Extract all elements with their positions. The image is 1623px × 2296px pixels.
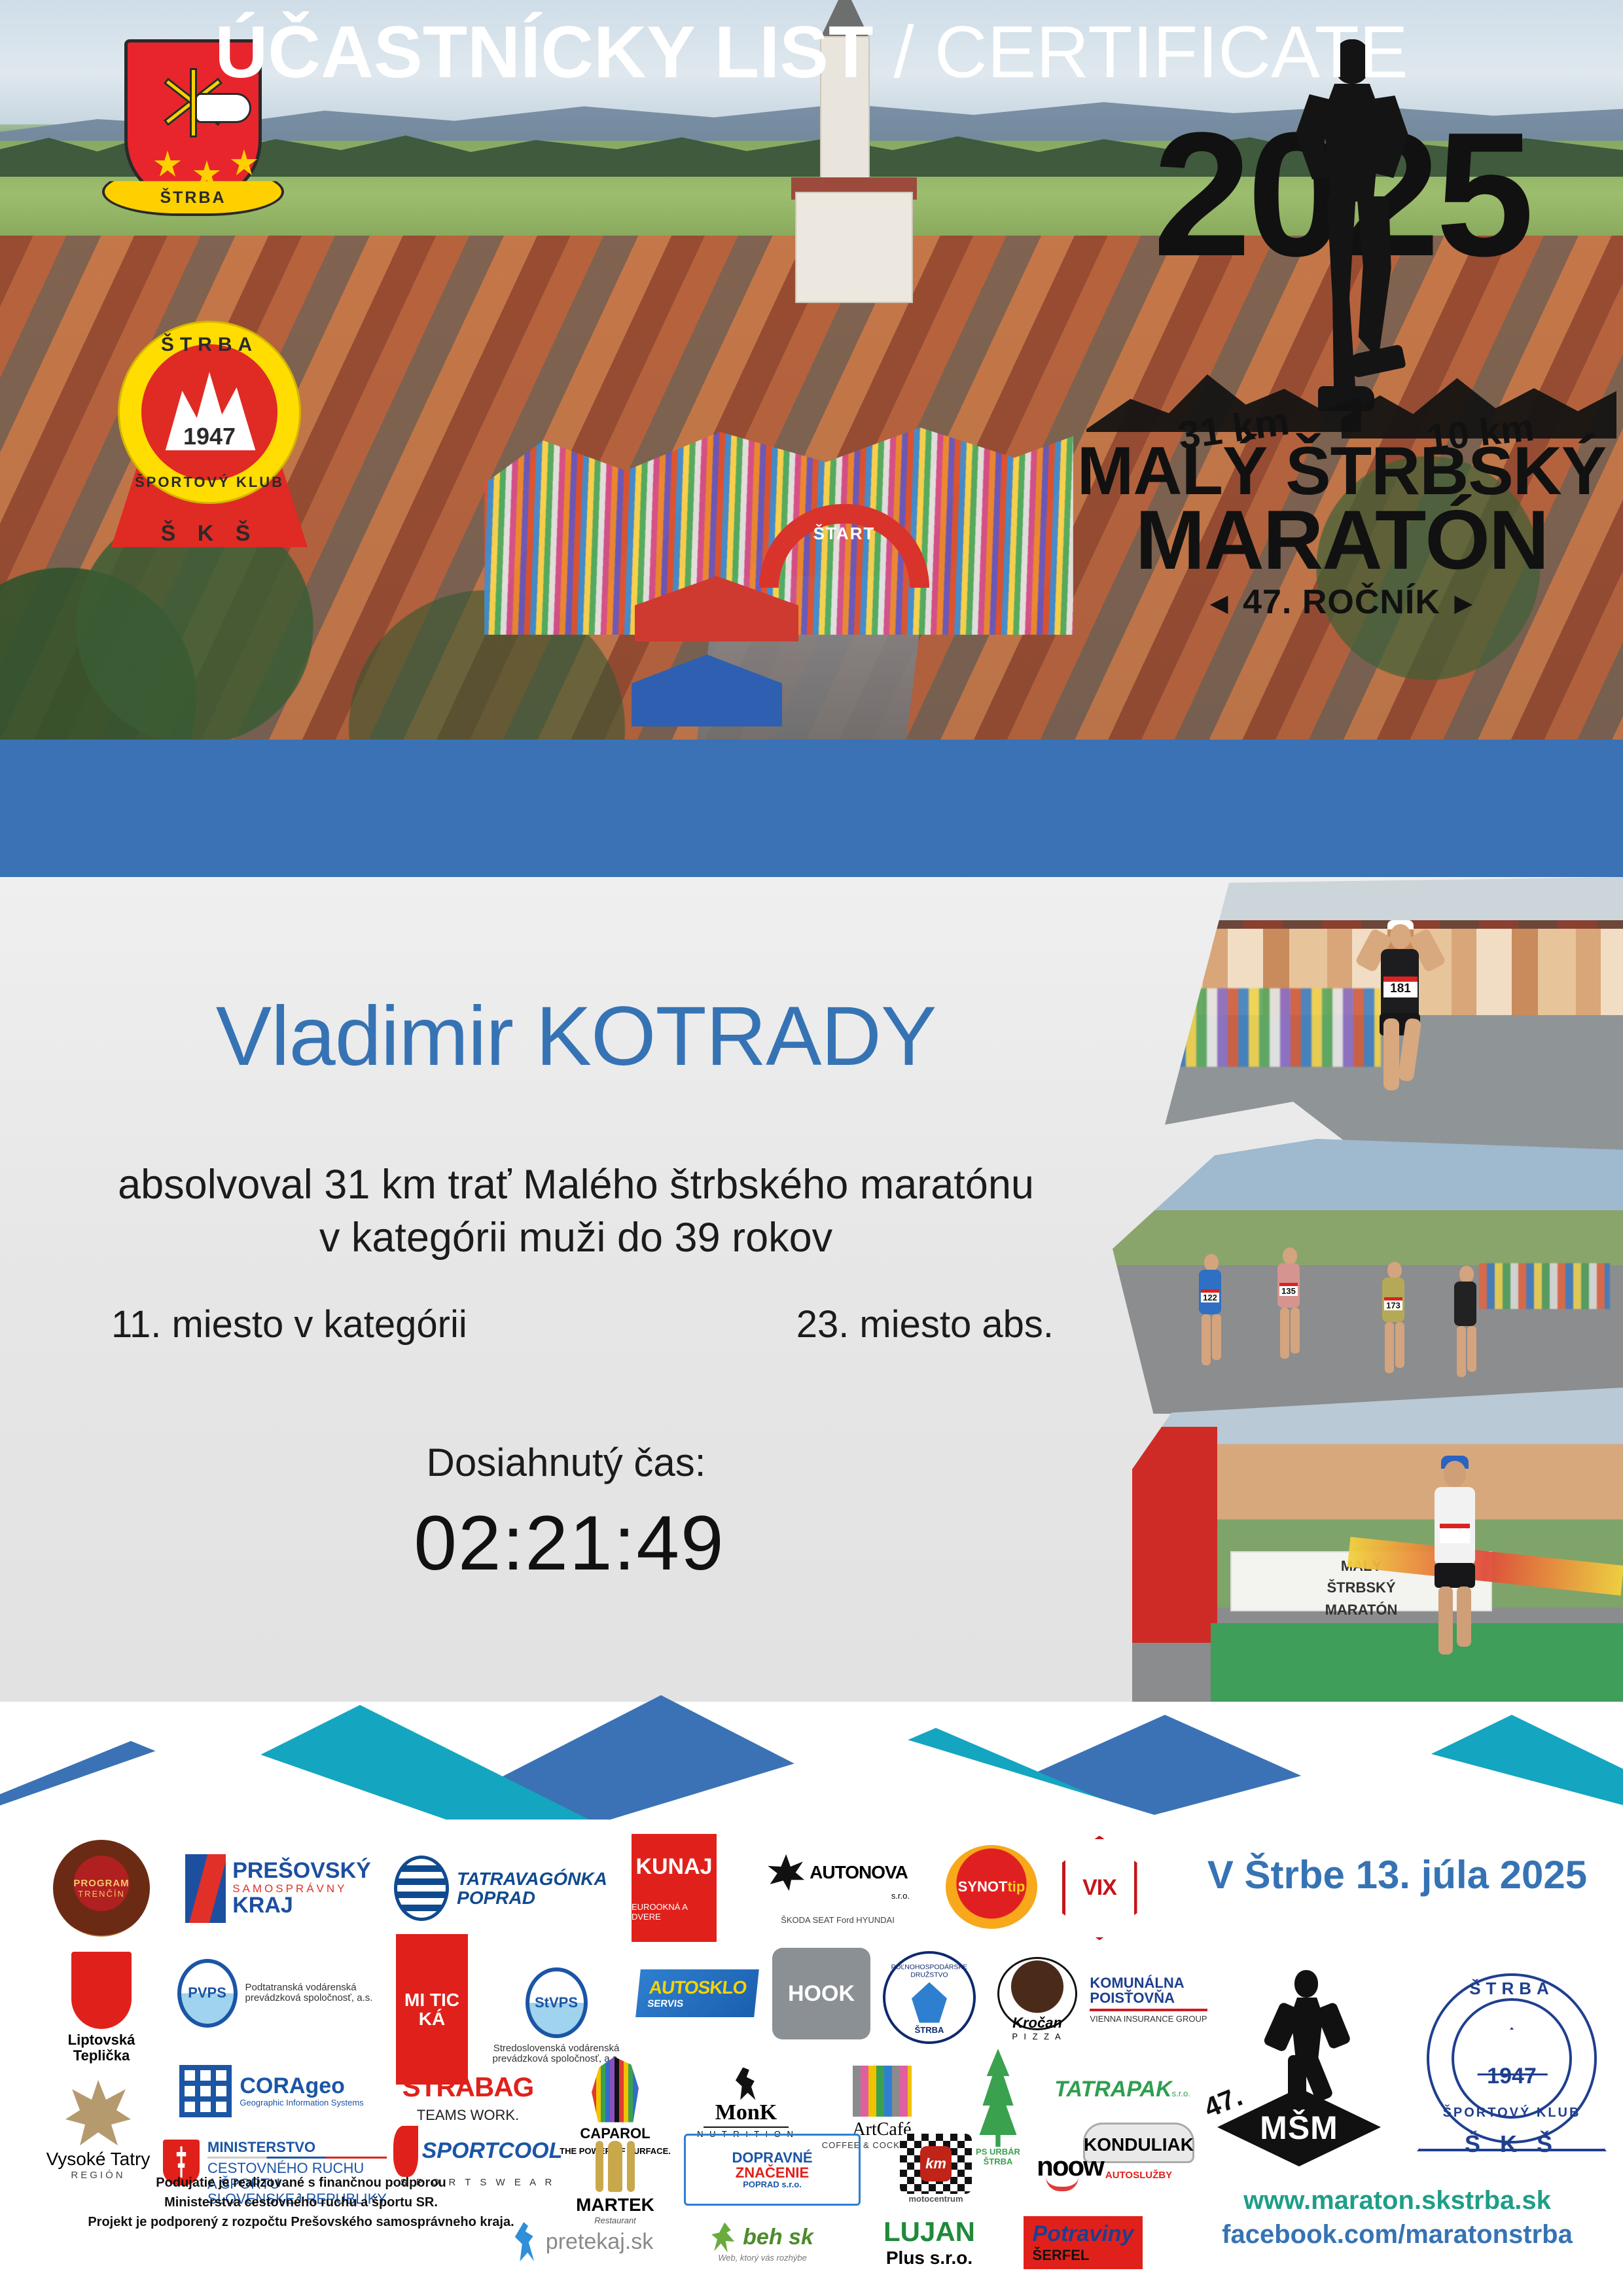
sponsor-logo[interactable]: SYNOTtip	[942, 1838, 1041, 1936]
absolute-placement: 23. miesto abs.	[796, 1302, 1054, 1346]
sponsor-label: Liptovská	[68, 2032, 135, 2048]
sponsor-label: Plus s.r.o.	[886, 2248, 972, 2269]
banner-title-bold: ÚČASTNÍCKY LIST	[215, 11, 873, 93]
sponsor-label: PROGRAM	[73, 1878, 129, 1889]
msm-logo: MŠM 47.	[1204, 1970, 1394, 2166]
sks-year: 1947	[141, 423, 277, 450]
sponsor-label: VIX	[1082, 1875, 1116, 1901]
sponsor-logo[interactable]: Kročan P I Z Z A	[985, 1945, 1090, 2053]
sponsor-label: Web, ktorý vás rozhýbe	[718, 2253, 807, 2263]
participant-name: Vladimir KOTRADY	[0, 988, 1152, 1085]
event-title-line2: MARATÓN	[1073, 499, 1610, 583]
sks-mid-text: ŠPORTOVÝ KLUB	[1414, 2106, 1610, 2121]
sponsor-label: STRABAG	[402, 2072, 534, 2103]
sponsor-label: SYNOT	[958, 1878, 1008, 1895]
photo-collage: 181 122 135 173	[1113, 877, 1623, 1702]
sks-club-logo: ŠTRBA 1947 ŠPORTOVÝ KLUB Š K Š	[111, 314, 308, 589]
photo-finisher-woman: 181	[1165, 877, 1623, 1165]
sponsor-label: SERVIS	[647, 1998, 745, 2009]
sponsor-logo[interactable]: PVPS Podtatranská vodárenská prevádzková…	[167, 1950, 383, 2036]
sponsor-logo[interactable]: Potraviny ŠERFEL	[1001, 2203, 1165, 2282]
support-line3: Projekt je podporený z rozpočtu Prešovsk…	[52, 2212, 550, 2232]
sponsor-label: ZNAČENIE	[732, 2165, 812, 2180]
sponsor-label: HOOK	[788, 1981, 855, 2007]
runner-silhouette-icon	[1270, 1970, 1348, 2108]
sponsor-label: ŠTRBA	[915, 2025, 944, 2035]
description-line2: v kategórii muži do 39 rokov	[39, 1211, 1113, 1265]
sponsor-label: EUROOKNÁ A DVERE	[632, 1902, 717, 1922]
msm-abbrev: MŠM	[1217, 2109, 1381, 2147]
category-placement: 11. miesto v kategórii	[111, 1302, 467, 1346]
description-line1: absolvoval 31 km trať Malého štrbského m…	[39, 1158, 1113, 1211]
sks-top-text: ŠTRBA	[111, 334, 308, 356]
sponsor-logo[interactable]: AUTONOVA s.r.o. ŠKODA SEAT Ford HYUNDAI	[746, 1834, 929, 1945]
sponsor-label: LUJAN	[883, 2216, 975, 2248]
sponsor-label: pretekaj.sk	[546, 2229, 653, 2255]
banner-title: ÚČASTNÍCKY LIST / CERTIFICATE	[0, 12, 1623, 92]
sponsor-label: Potraviny	[1033, 2221, 1134, 2247]
sks-mid-text: ŠPORTOVÝ KLUB	[111, 474, 308, 491]
sponsor-label: KUNAJ	[635, 1854, 712, 1880]
runner-group: 122 135 173	[1191, 1237, 1531, 1388]
sponsor-logo[interactable]: noow	[1014, 2127, 1126, 2206]
sponsor-label: TATRAVAGÓNKA	[457, 1869, 607, 1888]
sponsor-logo[interactable]: beh sk Web, ktorý vás rozhýbe	[681, 2210, 844, 2275]
photo-runners-group: 122 135 173	[1113, 1139, 1623, 1414]
sponsor-label: POPRAD s.r.o.	[732, 2180, 812, 2189]
sponsor-label: beh sk	[743, 2225, 813, 2250]
sponsor-label: Podtatranská vodárenská	[245, 1982, 373, 1993]
sponsor-label: ŠKODA SEAT Ford HYUNDAI	[781, 1915, 895, 1925]
sponsor-logo[interactable]: DOPRAVNÉ ZNAČENIE POPRAD s.r.o.	[684, 2134, 861, 2206]
sks-bottom-text: Š K Š	[111, 521, 308, 547]
sponsor-label: SPORTCOOL	[422, 2138, 563, 2164]
sponsor-label: PVPS	[188, 1984, 226, 2001]
bib-number: 135	[1279, 1283, 1298, 1296]
placement-row: 11. miesto v kategórii 23. miesto abs.	[39, 1302, 1126, 1346]
sponsor-label: TATRAPAK	[1054, 2077, 1171, 2102]
photo-finish-line: MALÝ ŠTRBSKÝ MARATÓN	[1132, 1388, 1623, 1702]
runner-pack	[1479, 1263, 1610, 1309]
sks-year: 1947	[1414, 2064, 1610, 2089]
support-line1: Podujatie je realizované s finančnou pod…	[52, 2173, 550, 2193]
sponsor-label: AUTOSKLO	[648, 1977, 747, 1998]
bib-number: 122	[1201, 1289, 1219, 1302]
sponsor-label: StVPS	[535, 1994, 578, 2011]
sponsor-label: MI TIC KÁ	[396, 1990, 468, 2029]
sponsor-logo[interactable]: KUNAJ EUROOKNÁ A DVERE	[632, 1834, 717, 1942]
girl-in-folk-costume	[1132, 1427, 1217, 1643]
achievement-description: absolvoval 31 km trať Malého štrbského m…	[39, 1158, 1113, 1264]
website-url[interactable]: www.maraton.skstrba.sk	[1171, 2186, 1623, 2215]
support-line2: Ministerstva cestovného ruchu a športu S…	[52, 2193, 550, 2212]
footer: PROGRAM TRENČÍN PREŠOVSKÝ SAMOSPRÁVNY KR…	[0, 1820, 1623, 2296]
finish-time: 02:21:49	[0, 1499, 1139, 1588]
sponsor-logo[interactable]: PREŠOVSKÝ SAMOSPRÁVNY KRAJ	[170, 1844, 386, 1933]
sponsor-label: AUTONOVA	[810, 1862, 908, 1883]
sponsor-label: ŠERFEL	[1033, 2247, 1134, 2264]
bib-number: 173	[1384, 1297, 1402, 1310]
event-logo: 2025 31 km 10 km MALÝ ŠTRBSKÝ MARATÓN 47…	[1073, 26, 1610, 602]
sponsor-logo[interactable]: AUTOSKLO SERVIS	[632, 1950, 762, 2036]
sponsor-logo[interactable]: VIX	[1050, 1834, 1149, 1942]
certificate-page: ŠTART ŠTRBA ŠTRBA	[0, 0, 1623, 2296]
sponsor-label: Kročan	[1012, 2015, 1062, 2032]
sponsor-label: DOPRAVNÉ	[732, 2150, 812, 2165]
sponsor-label: KRAJ	[232, 1894, 371, 1918]
time-label: Dosiahnutý čas:	[0, 1440, 1132, 1485]
sks-club-logo-footer: ŠTRBA 1947 ŠPORTOVÝ KLUB Š K Š	[1414, 1967, 1610, 2170]
sponsor-logo[interactable]: POĽNOHOSPODÁRSKE DRUŽSTVO ŠTRBA	[880, 1945, 978, 2050]
church-nave	[795, 192, 913, 303]
sponsor-logo[interactable]: LUJAN Plus s.r.o.	[867, 2203, 991, 2282]
sks-bottom-text: Š K Š	[1414, 2130, 1610, 2158]
sponsor-label: Vysoké Tatry	[46, 2149, 151, 2170]
sponsor-label: Geographic Information Systems	[240, 2098, 363, 2108]
footer-right-column: V Štrbe 13. júla 2025 MŠM 47. ŠTRBA 1947…	[1171, 1820, 1623, 2278]
sponsor-label: km	[925, 2155, 946, 2172]
sponsor-label: POĽNOHOSPODÁRSKE DRUŽSTVO	[891, 1963, 968, 1979]
sponsor-label: P I Z Z A	[1012, 2032, 1062, 2041]
coat-label: ŠTRBA	[118, 188, 268, 207]
male-finisher	[1414, 1446, 1499, 1662]
sponsor-label: s.r.o.	[891, 1891, 910, 1901]
facebook-url[interactable]: facebook.com/maratonstrba	[1171, 2220, 1623, 2250]
sponsor-label: TRENČÍN	[78, 1889, 125, 1899]
sponsor-label: prevádzková spoločnosť, a.s.	[245, 1993, 373, 2003]
sponsor-label: tip	[1007, 1878, 1025, 1895]
support-disclaimer: Podujatie je realizované s finančnou pod…	[52, 2173, 550, 2232]
mountain-divider	[0, 1676, 1623, 1826]
sponsor-logo[interactable]: TATRAVAGÓNKA POPRAD	[396, 1846, 605, 1931]
banner-title-light: CERTIFICATE	[935, 11, 1408, 93]
sponsor-label: MonK	[715, 2100, 777, 2125]
sponsor-logo[interactable]: HOOK	[772, 1948, 870, 2039]
bib-number: 181	[1383, 982, 1418, 996]
event-edition: 47. ROČNÍK	[1073, 583, 1610, 622]
sponsor-label: motocentrum	[908, 2194, 963, 2204]
sponsor-logo[interactable]: PROGRAM TRENČÍN	[39, 1839, 164, 1937]
hero-photo: ŠTART ŠTRBA ŠTRBA	[0, 0, 1623, 743]
sponsor-logo[interactable]: Liptovská Teplička	[46, 1947, 157, 2068]
runner-figure: 181	[1361, 916, 1440, 1113]
sponsor-label: CORAgeo	[240, 2075, 363, 2098]
start-arch-label: ŠTART	[789, 524, 900, 544]
banner-title-separator: /	[873, 11, 934, 93]
sks-top-text: ŠTRBA	[1414, 1979, 1610, 1999]
event-date: V Štrbe 13. júla 2025	[1171, 1852, 1623, 1897]
sponsor-label: MINISTERSTVO	[207, 2140, 387, 2155]
sponsor-label: PREŠOVSKÝ	[232, 1859, 371, 1883]
sponsor-label: POPRAD	[457, 1888, 607, 1907]
coat-hand-icon	[195, 93, 251, 123]
